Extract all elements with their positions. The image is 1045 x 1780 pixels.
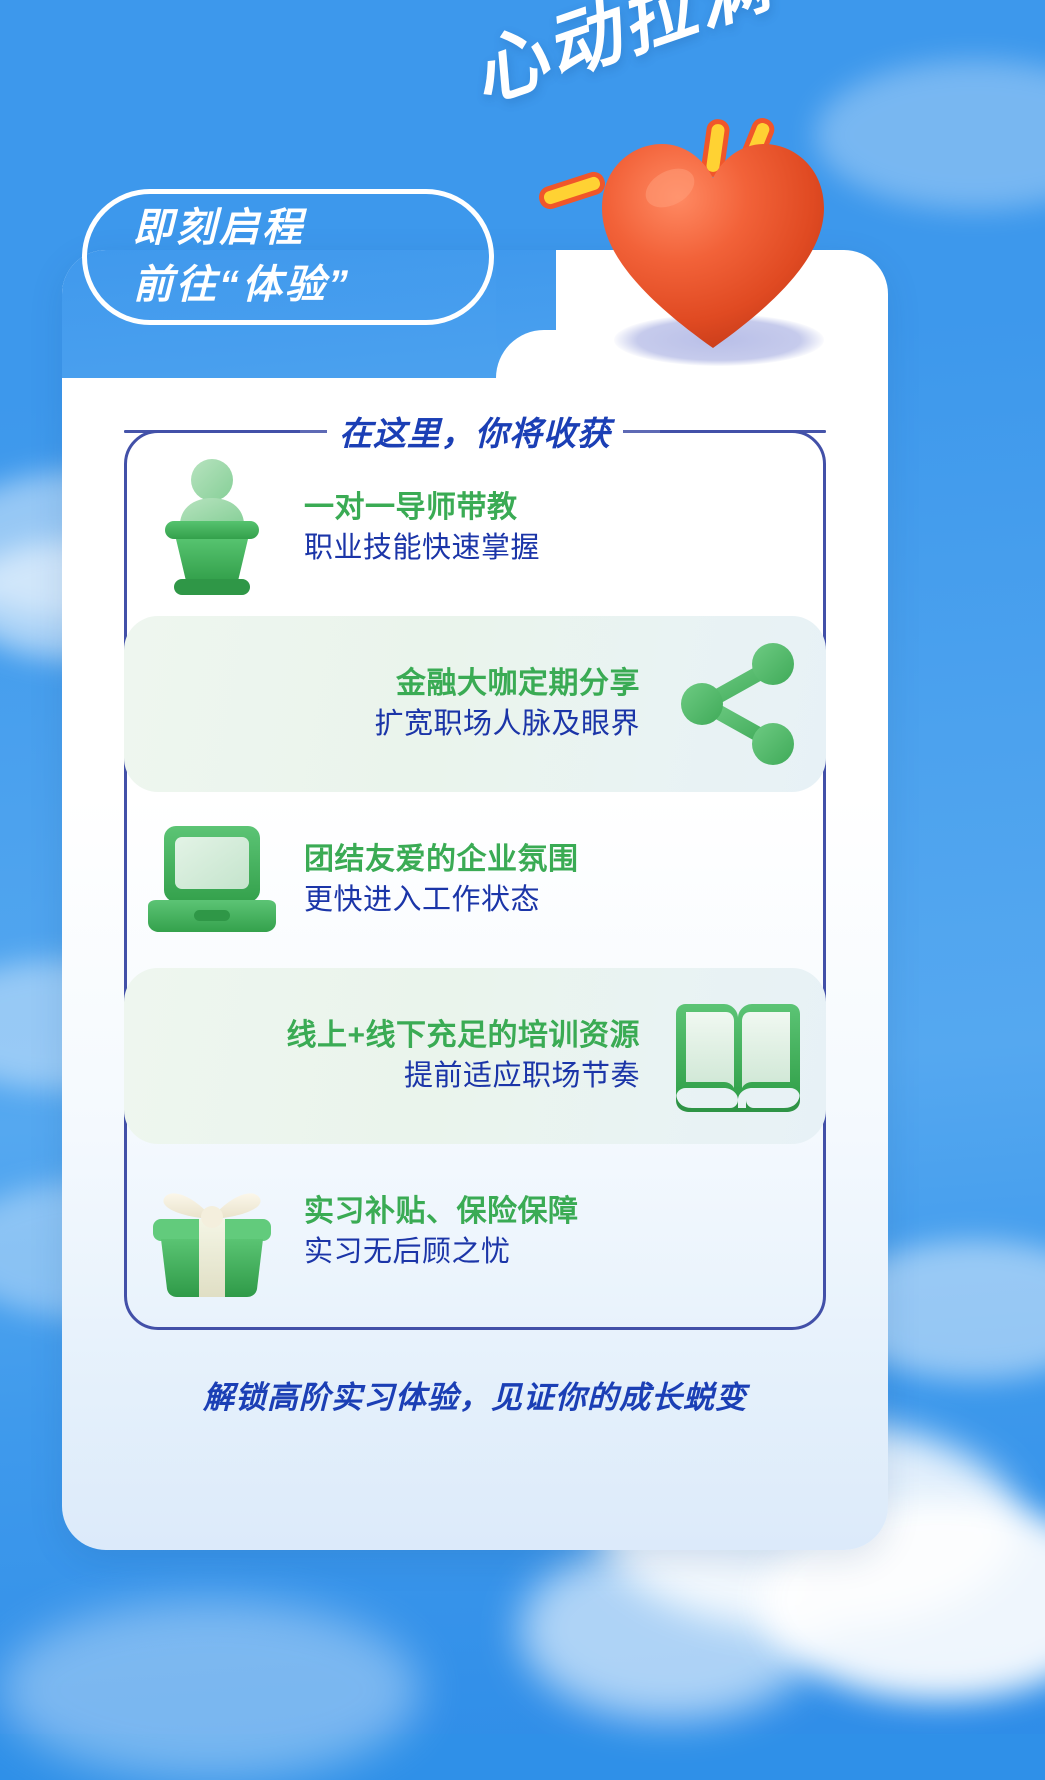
benefit-text-slot: 一对一导师带教 职业技能快速掌握 [300, 488, 826, 568]
heading-rule-left [124, 430, 327, 433]
benefit-text-slot: 金融大咖定期分享 扩宽职场人脉及眼界 [124, 664, 650, 744]
benefit-subtitle: 扩宽职场人脉及眼界 [374, 705, 640, 744]
benefit-icon-slot [650, 996, 826, 1116]
benefit-text-slot: 线上+线下充足的培训资源 提前适应职场节奏 [124, 1016, 650, 1096]
benefit-text-slot: 实习补贴、保险保障 实习无后顾之忧 [300, 1192, 826, 1272]
benefit-subtitle: 职业技能快速掌握 [304, 529, 540, 568]
cloud-decoration [815, 60, 1045, 210]
benefit-text-slot: 团结友爱的企业氛围 更快进入工作状态 [300, 840, 826, 920]
share-network-icon [668, 634, 808, 774]
benefit-title: 金融大咖定期分享 [396, 664, 640, 705]
open-book-icon [668, 996, 808, 1116]
heading-rule-right [623, 430, 826, 433]
benefit-icon-slot [124, 818, 300, 943]
section-heading-front: 在这里，你将收获 [124, 409, 826, 453]
benefit-icon-slot [650, 634, 826, 774]
hero-badge: 即刻启程 前往“体验” [82, 189, 494, 325]
gift-box-icon [137, 1165, 287, 1300]
benefit-title: 一对一导师带教 [304, 488, 518, 529]
hero-badge-line-1: 即刻启程 [133, 200, 489, 257]
benefit-subtitle: 提前适应职场节奏 [404, 1057, 640, 1096]
heart-3d-icon [598, 140, 828, 355]
benefit-icon-slot [124, 453, 300, 603]
benefit-row: 一对一导师带教 职业技能快速掌握 [124, 440, 826, 616]
benefit-title: 线上+线下充足的培训资源 [286, 1016, 640, 1057]
benefits-list: 一对一导师带教 职业技能快速掌握 金融大咖定期分享 扩宽职场人脉及眼界 [124, 440, 826, 1320]
hero-badge-line-2: 前往“体验” [133, 257, 489, 314]
benefit-icon-slot [124, 1165, 300, 1300]
benefit-row: 实习补贴、保险保障 实习无后顾之忧 [124, 1144, 826, 1320]
benefit-row: 金融大咖定期分享 扩宽职场人脉及眼界 [124, 616, 826, 792]
heart-graphic [588, 118, 848, 398]
benefit-row: 团结友爱的企业氛围 更快进入工作状态 [124, 792, 826, 968]
laptop-icon [142, 818, 282, 943]
benefit-row: 线上+线下充足的培训资源 提前适应职场节奏 [124, 968, 826, 1144]
benefit-title: 实习补贴、保险保障 [304, 1192, 579, 1233]
cloud-decoration [0, 1600, 420, 1780]
podium-speaker-icon [152, 453, 272, 603]
section-title: 在这里，你将收获 [339, 407, 611, 455]
benefit-subtitle: 更快进入工作状态 [304, 881, 540, 920]
footer-slogan: 解锁高阶实习体验，见证你的成长蜕变 [62, 1372, 888, 1417]
benefit-subtitle: 实习无后顾之忧 [304, 1233, 511, 1272]
benefit-title: 团结友爱的企业氛围 [304, 840, 579, 881]
